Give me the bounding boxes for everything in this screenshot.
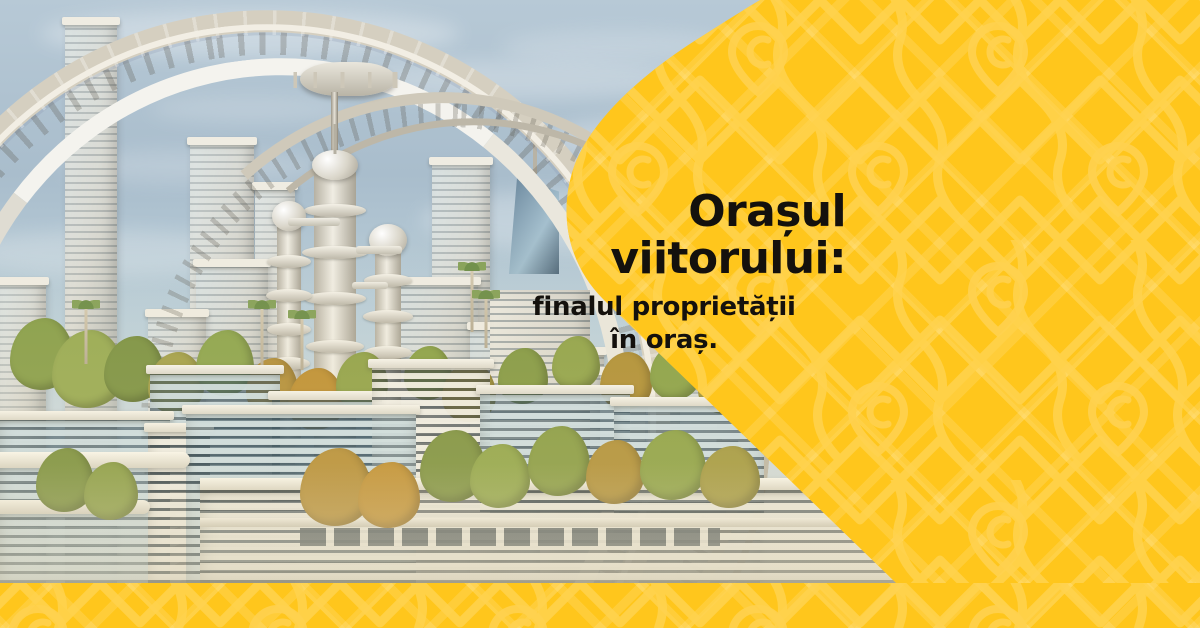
arch-hub-spokes <box>286 72 410 88</box>
tower-mast <box>334 124 337 154</box>
sky-bridge <box>356 246 402 254</box>
map-pin-c-icon-pattern <box>0 583 1200 628</box>
sky-bridge <box>288 218 340 226</box>
sky-bridge <box>352 282 388 289</box>
headline-line-1: Orașul <box>430 188 846 235</box>
subtitle: finalul proprietății în oraș. <box>430 291 850 358</box>
subtitle-line-2: în oraș. <box>478 324 850 357</box>
palm-tree <box>288 310 316 370</box>
promo-banner: Orașul viitorului: finalul proprietății … <box>0 0 1200 628</box>
palm-tree <box>248 300 276 372</box>
palm-tree <box>72 300 100 364</box>
page-title: Orașul viitorului: <box>430 188 850 282</box>
bottom-yellow-bar <box>0 583 1200 628</box>
headline-block: Orașul viitorului: finalul proprietății … <box>430 188 850 358</box>
headline-line-2: viitorului: <box>430 235 846 282</box>
subtitle-line-1: finalul proprietății <box>478 291 850 324</box>
